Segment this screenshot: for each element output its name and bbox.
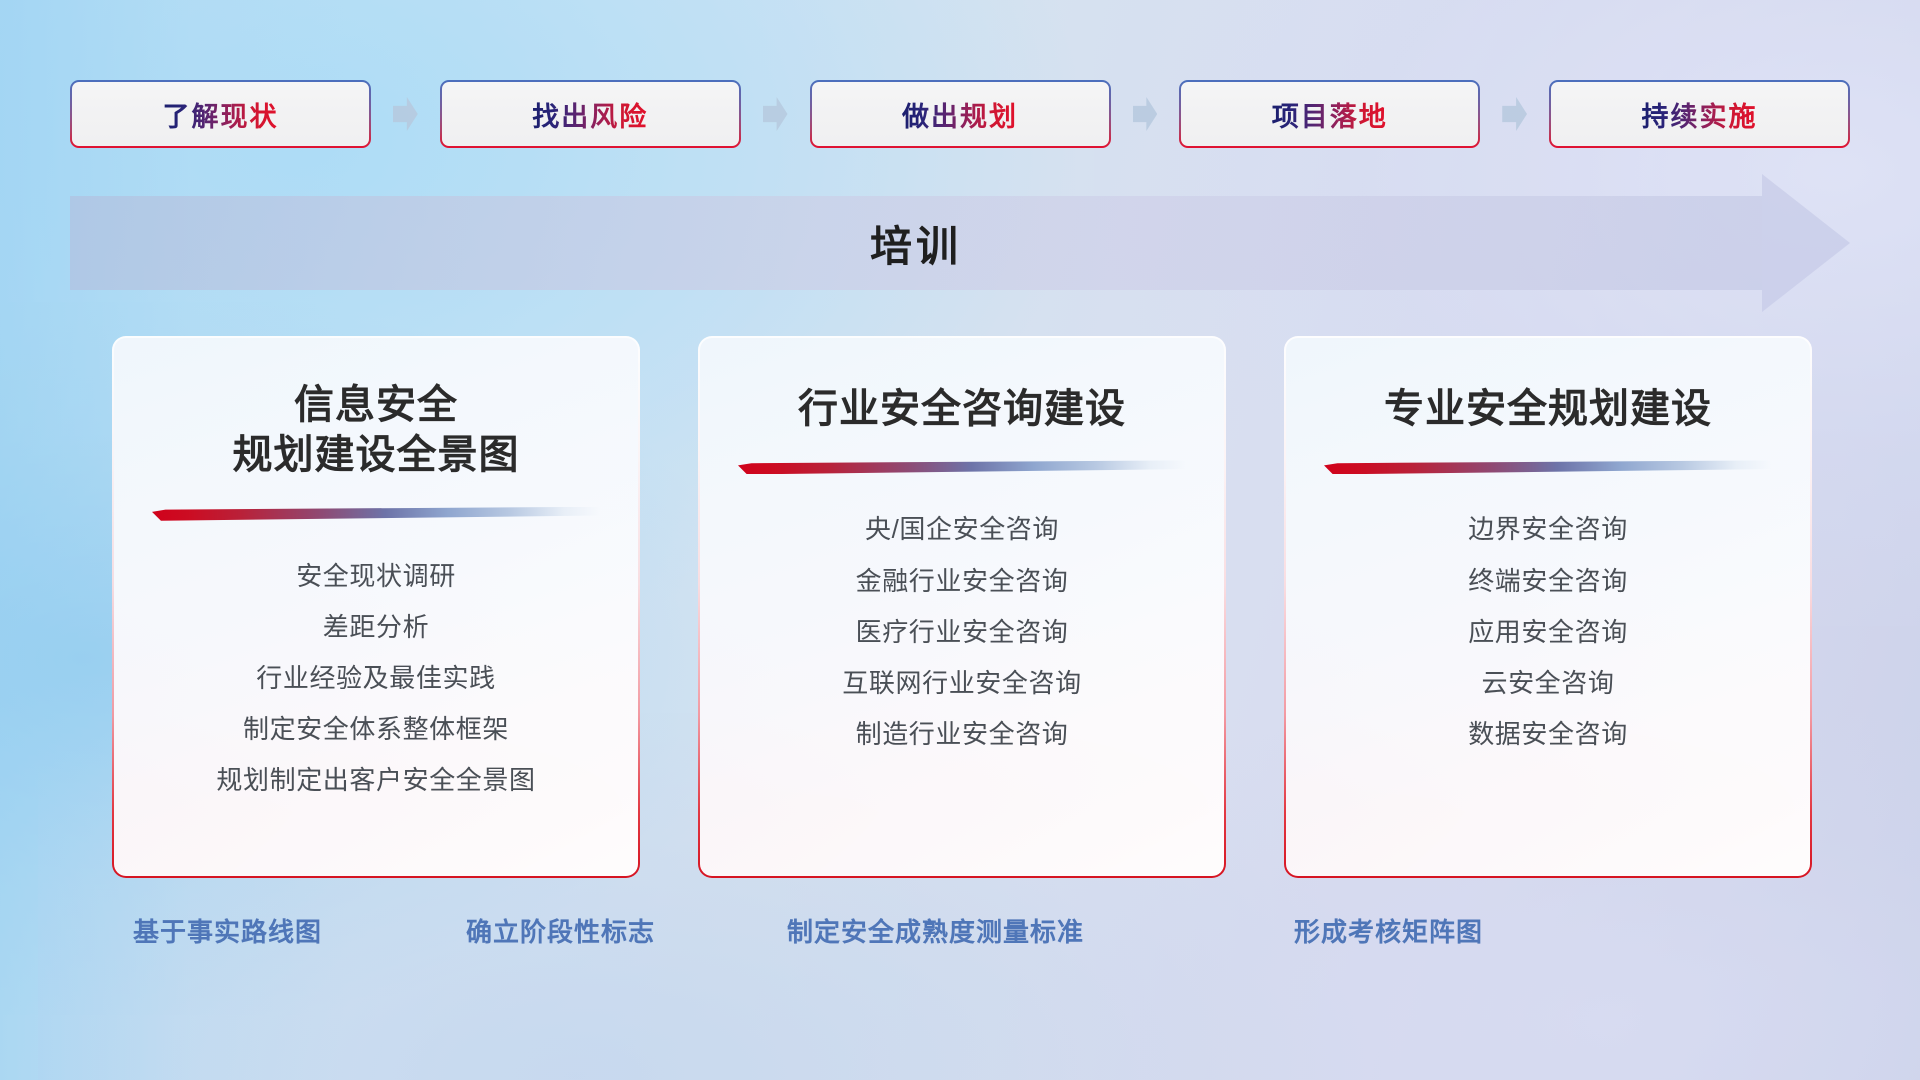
list-item: 规划制定出客户安全全景图 <box>216 759 535 801</box>
card-2-title: 专业安全规划建设 <box>1360 384 1736 434</box>
card-2-divider-bar <box>1324 460 1772 474</box>
arrow-right-icon-3 <box>1502 97 1527 131</box>
process-step-4-label: 持续实施 <box>1642 95 1758 134</box>
list-item: 央/国企安全咨询 <box>865 508 1059 550</box>
caption-0: 基于事实路线图 <box>133 912 322 949</box>
card-1-divider <box>738 460 1186 474</box>
list-item: 云安全咨询 <box>1481 662 1614 704</box>
process-step-1-inner: 找出风险 <box>442 82 739 146</box>
list-item: 数据安全咨询 <box>1468 713 1628 755</box>
banner-title: 培训 <box>70 196 1762 290</box>
card-0-title-line-1: 规划建设全景图 <box>233 430 520 480</box>
card-2-inner: 专业安全规划建设 边界安全咨询 终端安全咨询 应用安全咨询 云安全咨询 数据安全… <box>1286 338 1810 876</box>
card-0-divider <box>152 507 600 521</box>
card-1-inner: 行业安全咨询建设 央/国企安全咨询 金融行业安全咨询 医疗行业安全咨询 互联网行… <box>700 338 1224 876</box>
card-0-title-line-0: 信息安全 <box>233 380 520 430</box>
card-2-list: 边界安全咨询 终端安全咨询 应用安全咨询 云安全咨询 数据安全咨询 <box>1468 508 1628 755</box>
list-item: 终端安全咨询 <box>1468 560 1628 602</box>
process-step-3[interactable]: 项目落地 <box>1179 80 1480 148</box>
arrow-right-icon-2 <box>1133 97 1158 131</box>
card-0-divider-bar <box>152 507 600 521</box>
card-0-list: 安全现状调研 差距分析 行业经验及最佳实践 制定安全体系整体框架 规划制定出客户… <box>216 555 535 802</box>
card-1-title-line-0: 行业安全咨询建设 <box>798 384 1126 434</box>
list-item: 行业经验及最佳实践 <box>256 657 495 699</box>
card-2-divider <box>1324 460 1772 474</box>
training-banner: 培训 <box>70 196 1850 290</box>
process-step-3-wrap: 项目落地 <box>1179 80 1480 148</box>
process-step-0-inner: 了解现状 <box>72 82 369 146</box>
caption-1: 确立阶段性标志 <box>466 912 655 949</box>
list-item: 互联网行业安全咨询 <box>842 662 1081 704</box>
process-step-1[interactable]: 找出风险 <box>440 80 741 148</box>
arrow-right-icon-1 <box>763 97 788 131</box>
card-1-divider-bar <box>738 460 1186 474</box>
card-2-title-line-0: 专业安全规划建设 <box>1384 384 1712 434</box>
card-1-title: 行业安全咨询建设 <box>774 384 1150 434</box>
caption-2: 制定安全成熟度测量标准 <box>787 912 1084 949</box>
list-item: 差距分析 <box>323 606 429 648</box>
banner-arrow-tip-icon <box>1762 174 1850 312</box>
process-step-4[interactable]: 持续实施 <box>1549 80 1850 148</box>
card-0[interactable]: 信息安全 规划建设全景图 安全现状调研 差距分析 行业经验及最佳实践 制定安全体… <box>112 336 640 878</box>
process-step-1-label: 找出风险 <box>532 95 648 134</box>
process-step-4-wrap: 持续实施 <box>1549 80 1850 148</box>
card-0-inner: 信息安全 规划建设全景图 安全现状调研 差距分析 行业经验及最佳实践 制定安全体… <box>114 338 638 876</box>
process-step-1-wrap: 找出风险 <box>440 80 741 148</box>
card-row: 信息安全 规划建设全景图 安全现状调研 差距分析 行业经验及最佳实践 制定安全体… <box>112 336 1812 878</box>
process-step-3-label: 项目落地 <box>1272 95 1388 134</box>
list-item: 制定安全体系整体框架 <box>243 708 509 750</box>
card-2[interactable]: 专业安全规划建设 边界安全咨询 终端安全咨询 应用安全咨询 云安全咨询 数据安全… <box>1284 336 1812 878</box>
process-step-0[interactable]: 了解现状 <box>70 80 371 148</box>
process-step-3-inner: 项目落地 <box>1181 82 1478 146</box>
list-item: 边界安全咨询 <box>1468 508 1628 550</box>
card-1[interactable]: 行业安全咨询建设 央/国企安全咨询 金融行业安全咨询 医疗行业安全咨询 互联网行… <box>698 336 1226 878</box>
list-item: 安全现状调研 <box>296 555 456 597</box>
card-0-title: 信息安全 规划建设全景图 <box>209 380 544 481</box>
process-step-2-wrap: 做出规划 <box>810 80 1111 148</box>
caption-3: 形成考核矩阵图 <box>1294 912 1483 949</box>
process-step-0-wrap: 了解现状 <box>70 80 371 148</box>
process-step-flow: 了解现状 找出风险 做出规划 项目落地 <box>70 78 1850 150</box>
list-item: 制造行业安全咨询 <box>856 713 1069 755</box>
process-step-2[interactable]: 做出规划 <box>810 80 1111 148</box>
process-step-0-label: 了解现状 <box>163 95 279 134</box>
list-item: 应用安全咨询 <box>1468 611 1628 653</box>
process-step-4-inner: 持续实施 <box>1551 82 1848 146</box>
process-step-2-label: 做出规划 <box>902 95 1018 134</box>
arrow-right-icon-0 <box>393 97 418 131</box>
caption-row: 基于事实路线图 确立阶段性标志 制定安全成熟度测量标准 形成考核矩阵图 <box>0 912 1920 968</box>
card-1-list: 央/国企安全咨询 金融行业安全咨询 医疗行业安全咨询 互联网行业安全咨询 制造行… <box>842 508 1081 755</box>
list-item: 金融行业安全咨询 <box>856 560 1069 602</box>
process-step-2-inner: 做出规划 <box>812 82 1109 146</box>
list-item: 医疗行业安全咨询 <box>856 611 1069 653</box>
